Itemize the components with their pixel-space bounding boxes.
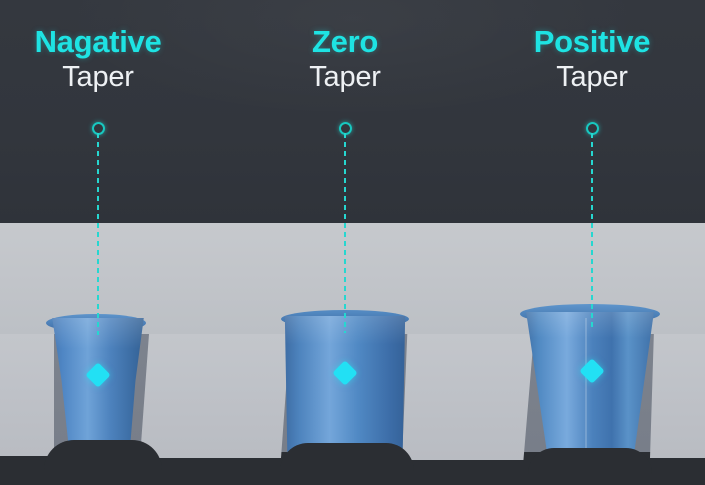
hole-wall: [46, 318, 150, 458]
annotation-title: Positive: [494, 26, 690, 57]
hole-wall-seam: [585, 318, 587, 458]
annotation-negative-taper: Nagative Taper: [0, 26, 196, 94]
zero-taper-hole: [281, 316, 409, 458]
taper-illustration-scene: Nagative Taper Zero Taper Positive Taper: [0, 0, 705, 485]
annotation-subtitle: Taper: [0, 61, 196, 94]
annotation-title: Nagative: [0, 26, 196, 57]
hole-floor-shadow-3: [528, 448, 652, 474]
hole-floor-shadow-1: [44, 440, 162, 470]
negative-taper-hole: [46, 318, 150, 458]
substrate-pillar-between-1-2: [140, 334, 290, 458]
hole-wall: [522, 312, 658, 458]
annotation-subtitle: Taper: [247, 61, 443, 94]
substrate-pillar-between-2-3: [402, 334, 534, 460]
positive-taper-hole: [522, 312, 658, 458]
annotation-subtitle: Taper: [494, 61, 690, 94]
annotation-title: Zero: [247, 26, 443, 57]
annotation-positive-taper: Positive Taper: [494, 26, 690, 94]
hole-wall: [281, 316, 409, 458]
hole-floor-shadow-2: [280, 443, 414, 471]
substrate-pillar-right-edge: [650, 334, 705, 458]
leader-dashed-line: [591, 133, 593, 331]
annotation-zero-taper: Zero Taper: [247, 26, 443, 94]
leader-dashed-line: [97, 133, 99, 335]
leader-dashed-line: [344, 133, 346, 333]
